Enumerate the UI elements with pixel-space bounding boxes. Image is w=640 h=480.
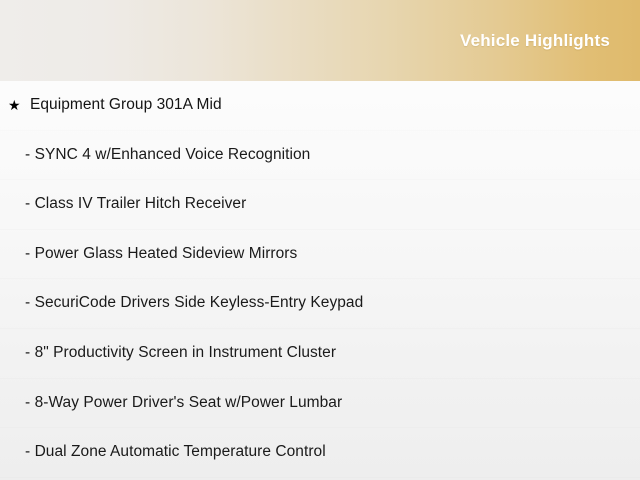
list-item: - 8-Way Power Driver's Seat w/Power Lumb… (0, 379, 640, 429)
list-item-label: - SYNC 4 w/Enhanced Voice Recognition (25, 146, 310, 165)
list-item-label: - Dual Zone Automatic Temperature Contro… (25, 443, 326, 462)
list-item-label: - 8" Productivity Screen in Instrument C… (25, 344, 336, 363)
star-icon: ★ (8, 98, 26, 112)
list-item: - SYNC 4 w/Enhanced Voice Recognition (0, 131, 640, 181)
list-item-label: - 8-Way Power Driver's Seat w/Power Lumb… (25, 394, 342, 413)
list-item: - Class IV Trailer Hitch Receiver (0, 180, 640, 230)
list-item-label: - SecuriCode Drivers Side Keyless-Entry … (25, 294, 363, 313)
vehicle-highlights-page: Vehicle Highlights ★ Equipment Group 301… (0, 0, 640, 480)
header-banner: Vehicle Highlights (0, 0, 640, 81)
list-item: - SecuriCode Drivers Side Keyless-Entry … (0, 279, 640, 329)
list-item-label: - Class IV Trailer Hitch Receiver (25, 195, 246, 214)
list-item-label: Equipment Group 301A Mid (30, 96, 222, 115)
highlights-list: ★ Equipment Group 301A Mid - SYNC 4 w/En… (0, 81, 640, 480)
list-item: - Dual Zone Automatic Temperature Contro… (0, 428, 640, 478)
list-item: - Power Glass Heated Sideview Mirrors (0, 230, 640, 280)
list-item-label: - Power Glass Heated Sideview Mirrors (25, 245, 297, 264)
list-item: - 8" Productivity Screen in Instrument C… (0, 329, 640, 379)
list-item: ★ Equipment Group 301A Mid (0, 81, 640, 131)
page-title: Vehicle Highlights (460, 32, 610, 49)
